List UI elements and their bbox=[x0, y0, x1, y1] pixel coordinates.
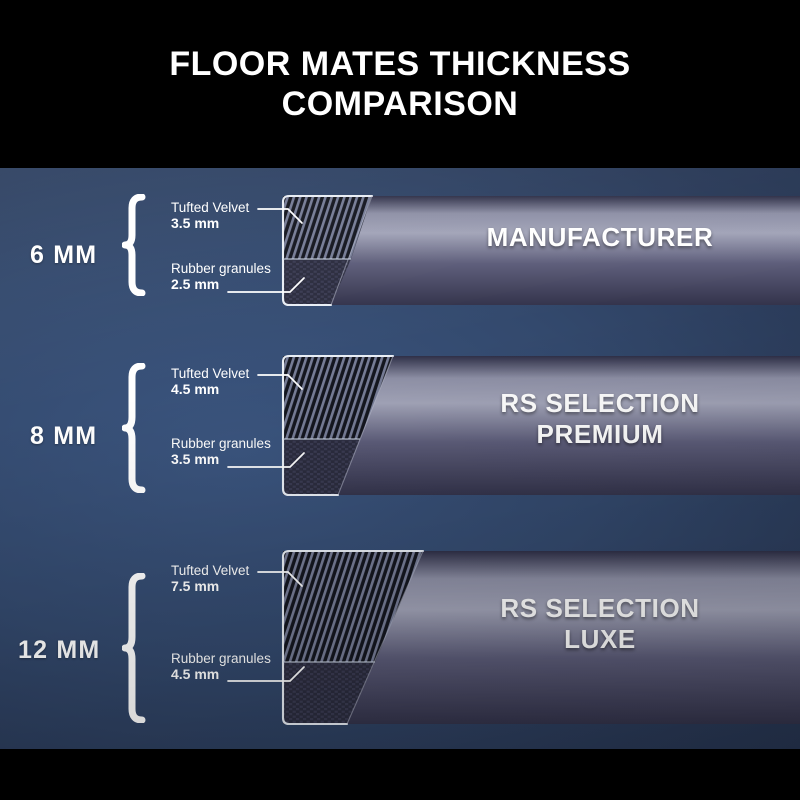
product-row-3: RS SELECTION LUXE 12 MM Tufted Velvet 7.… bbox=[0, 543, 800, 749]
product-name-1: MANUFACTURER bbox=[420, 223, 780, 253]
title-line-2: COMPARISON bbox=[70, 84, 730, 124]
product-name-3-line-1: RS SELECTION bbox=[420, 593, 780, 624]
page-title: FLOOR MATES THICKNESS COMPARISON bbox=[70, 44, 730, 124]
leader-velvet-1 bbox=[258, 207, 306, 229]
comparison-panel: MANUFACTURER 6 MM Tufted Velvet 3.5 mm bbox=[0, 168, 800, 749]
thickness-label-3: 12 MM bbox=[18, 636, 100, 665]
callout-rubber-2-name: Rubber granules bbox=[171, 436, 321, 451]
thickness-label-1: 6 MM bbox=[30, 241, 97, 270]
product-name-3: RS SELECTION LUXE bbox=[420, 593, 780, 655]
callout-rubber-3-name: Rubber granules bbox=[171, 651, 321, 666]
product-name-1-line-1: MANUFACTURER bbox=[420, 223, 780, 253]
leader-velvet-2 bbox=[258, 373, 306, 395]
product-name-2: RS SELECTION PREMIUM bbox=[420, 388, 780, 450]
infographic-root: FLOOR MATES THICKNESS COMPARISON bbox=[0, 0, 800, 800]
footer-band bbox=[0, 749, 800, 800]
thickness-label-2: 8 MM bbox=[30, 422, 97, 451]
leader-rubber-1 bbox=[228, 276, 308, 298]
leader-rubber-3 bbox=[228, 665, 308, 687]
leader-rubber-2 bbox=[228, 451, 308, 473]
brace-1 bbox=[122, 194, 148, 296]
brace-3 bbox=[122, 573, 148, 723]
callout-rubber-1-name: Rubber granules bbox=[171, 261, 321, 276]
header-band: FLOOR MATES THICKNESS COMPARISON bbox=[0, 0, 800, 168]
leader-velvet-3 bbox=[258, 570, 306, 592]
product-row-1: MANUFACTURER 6 MM Tufted Velvet 3.5 mm bbox=[0, 168, 800, 343]
brace-2 bbox=[122, 363, 148, 493]
title-line-1: FLOOR MATES THICKNESS bbox=[70, 44, 730, 84]
product-name-3-line-2: LUXE bbox=[420, 624, 780, 655]
product-row-2: RS SELECTION PREMIUM 8 MM Tufted Velvet … bbox=[0, 343, 800, 543]
product-name-2-line-2: PREMIUM bbox=[420, 419, 780, 450]
mat-cross-section-1 bbox=[275, 193, 800, 313]
product-name-2-line-1: RS SELECTION bbox=[420, 388, 780, 419]
